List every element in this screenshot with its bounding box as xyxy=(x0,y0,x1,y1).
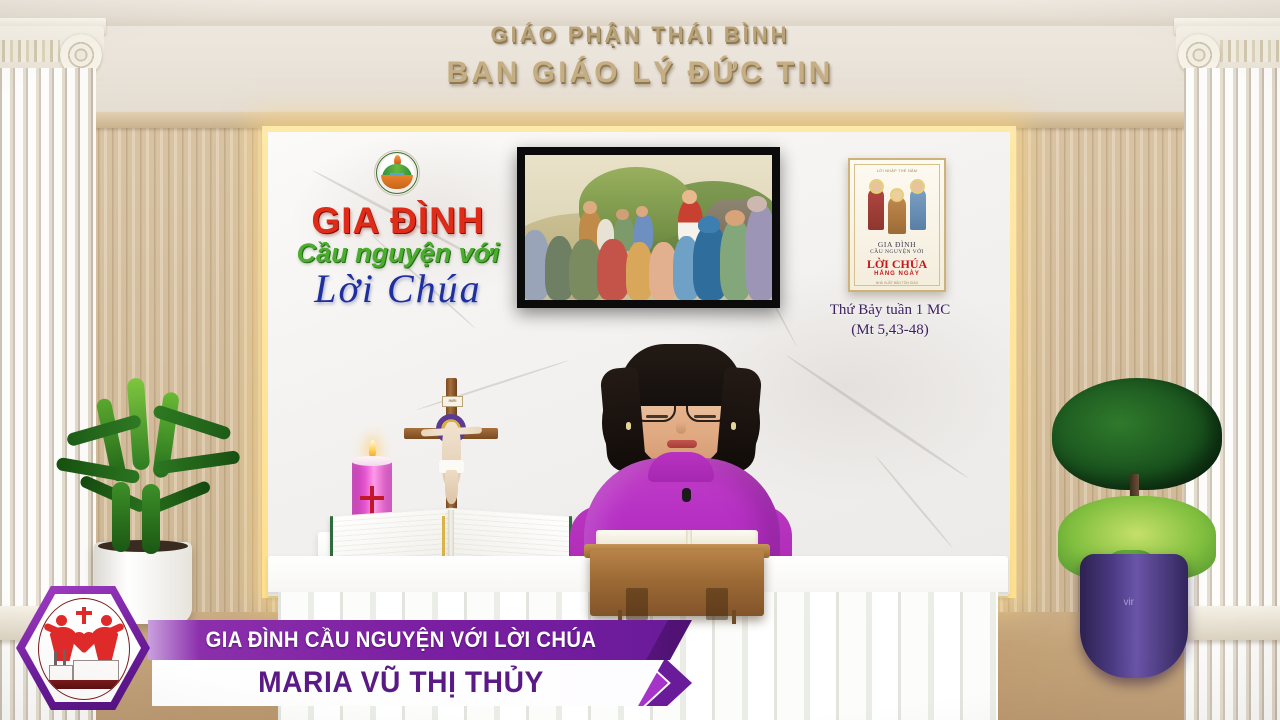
plant-vase xyxy=(1080,554,1188,678)
prayer-book-cover: LỜI NHẬP THỂ NĂM GIA ĐÌNH CẦU NGUYỆN VỚI… xyxy=(848,158,946,292)
stand-notch-right xyxy=(706,588,728,620)
badge-figure-head-left xyxy=(56,615,67,626)
lower-third-banner: GIA ĐÌNH CẦU NGUYỆN VỚI LỜI CHÚA MARIA V… xyxy=(0,580,700,720)
badge-emblem xyxy=(38,598,130,700)
monitor-screen xyxy=(525,155,772,300)
mouth xyxy=(667,440,697,448)
poster-footer: NHÀ XUẤT BẢN TÔN GIÁO xyxy=(850,281,944,285)
badge-heart-icon xyxy=(74,634,94,654)
poster-line-3: LỜI CHÚA xyxy=(850,257,944,272)
nose xyxy=(676,422,686,434)
banner-speaker-name: MARIA VŨ THỊ THỦY xyxy=(180,662,622,704)
poster-line-2: CẦU NGUYỆN VỚI xyxy=(850,249,944,255)
plant-foliage xyxy=(42,372,242,558)
stand-leg-right xyxy=(732,610,736,624)
wall-sign: GIÁO PHẬN THÁI BÌNH BAN GIÁO LÝ ĐỨC TIN xyxy=(0,22,1280,90)
giao-phan-thai-binh-badge xyxy=(16,586,150,710)
inri-plaque: INRI xyxy=(442,396,463,407)
earring-right xyxy=(731,422,736,430)
backdrop-title-red: GIA ĐÌNH xyxy=(268,200,528,242)
badge-cathedral-icon xyxy=(45,655,123,689)
ficus-tree-purple-vase: vir xyxy=(1042,378,1232,678)
studio-screenshot: GIÁO PHẬN THÁI BÌNH BAN GIÁO LÝ ĐỨC TIN … xyxy=(0,0,1280,720)
ban-giao-ly-duc-tin-logo xyxy=(374,150,420,196)
liturgical-day: Thứ Bảy tuần 1 MC xyxy=(800,300,980,320)
ao-dai-collar xyxy=(648,452,714,482)
department-line: BAN GIÁO LÝ ĐỨC TIN xyxy=(0,56,1280,90)
diocese-line: GIÁO PHẬN THÁI BÌNH xyxy=(0,22,1280,48)
badge-cross-vertical-icon xyxy=(82,607,86,624)
earring-left xyxy=(626,422,631,430)
vase-watermark: vir xyxy=(1123,597,1134,608)
lapel-microphone-icon xyxy=(682,488,691,502)
corpus-legs xyxy=(445,470,458,504)
poster-line-4: HẰNG NGÀY xyxy=(850,271,944,277)
badge-cross-horizontal-icon xyxy=(76,611,92,615)
holy-family-illustration xyxy=(864,180,930,234)
candle-cross-horizontal xyxy=(360,496,384,500)
scripture-reference: Thứ Bảy tuần 1 MC (Mt 5,43-48) xyxy=(800,300,980,341)
wall-monitor[interactable] xyxy=(517,147,780,308)
backdrop-title-blue: Lời Chúa xyxy=(268,265,528,312)
hair-side-right xyxy=(716,367,763,474)
poster-line-1: GIA ĐÌNH xyxy=(850,240,944,249)
candle-top xyxy=(351,456,393,466)
poster-top-text: LỜI NHẬP THỂ NĂM xyxy=(850,169,944,173)
bible-citation: (Mt 5,43-48) xyxy=(800,320,980,340)
banner-program-title: GIA ĐÌNH CẦU NGUYỆN VỚI LỜI CHÚA xyxy=(185,622,617,658)
logo-ring xyxy=(376,152,418,194)
badge-figure-head-right xyxy=(101,615,112,626)
